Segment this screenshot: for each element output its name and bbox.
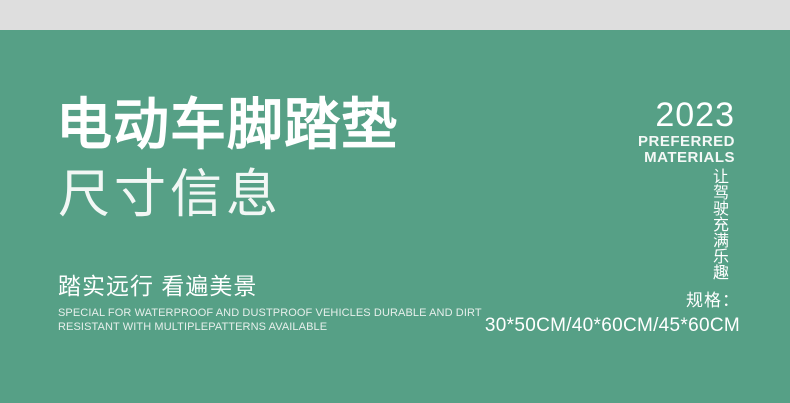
vertical-slogan: 让驾驶充满乐趣 (703, 168, 727, 280)
product-banner: 电动车脚踏垫 尺寸信息 踏实远行 看遍美景 SPECIAL FOR WATERP… (0, 0, 790, 403)
specification-value: 30*50CM/40*60CM/45*60CM (485, 315, 740, 337)
english-description: SPECIAL FOR WATERPROOF AND DUSTPROOF VEH… (58, 306, 438, 334)
tagline: 踏实远行 看遍美景 (58, 272, 257, 300)
english-description-line-2: RESISTANT WITH MULTIPLEPATTERNS AVAILABL… (58, 320, 438, 334)
top-gray-band (0, 0, 790, 30)
page-subtitle: 尺寸信息 (58, 166, 282, 224)
year-badge: 2023 PREFERRED MATERIALS (638, 98, 735, 165)
page-title: 电动车脚踏垫 (56, 95, 398, 155)
year-caption-line-1: PREFERRED (638, 134, 735, 149)
specification-label: 规格： (485, 291, 740, 311)
year-value: 2023 (638, 98, 735, 132)
english-description-line-1: SPECIAL FOR WATERPROOF AND DUSTPROOF VEH… (58, 306, 438, 320)
specification-block: 规格： 30*50CM/40*60CM/45*60CM (485, 291, 740, 337)
year-caption-line-2: MATERIALS (638, 150, 735, 165)
